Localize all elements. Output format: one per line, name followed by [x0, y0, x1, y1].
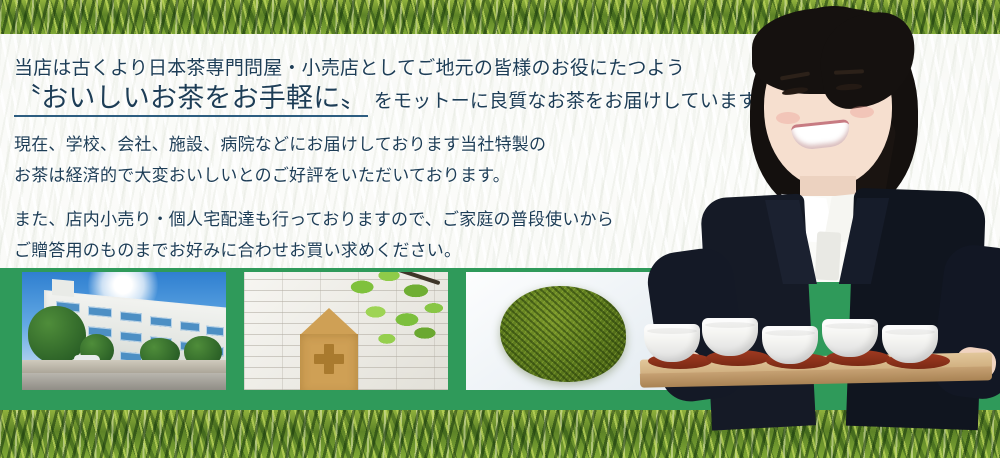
slogan-quote: 〝おいしいお茶をお手軽に〟: [14, 83, 368, 117]
lead-line-2: 〝おいしいお茶をお手軽に〟 をモットーに良質なお茶をお届けしています。: [14, 84, 775, 116]
paragraph-2-line-2: ご贈答用のものまでお好みに合わせお買い求めください。: [14, 236, 461, 261]
necktie: [815, 231, 841, 280]
paragraph-1-line-2: お茶は経済的で大変おいしいとのご好評をいただいております。: [14, 161, 510, 186]
wooden-tray: [640, 348, 992, 392]
cheek-left: [776, 112, 800, 124]
cheek-right: [850, 106, 874, 118]
paragraph-1-line-1: 現在、学校、会社、施設、病院などにお届けしております当社特製の: [14, 130, 546, 155]
paragraph-2-line-1: また、店内小売り・個人宅配達も行っておりますので、ご家庭の普段使いから: [14, 205, 614, 230]
banner-root: 当店は古くより日本茶専門問屋・小売店としてご地元の皆様のお役にたつよう 〝おいし…: [0, 0, 1000, 458]
lead-line-1: 当店は古くより日本茶専門問屋・小売店としてご地元の皆様のお役にたつよう: [14, 56, 685, 80]
